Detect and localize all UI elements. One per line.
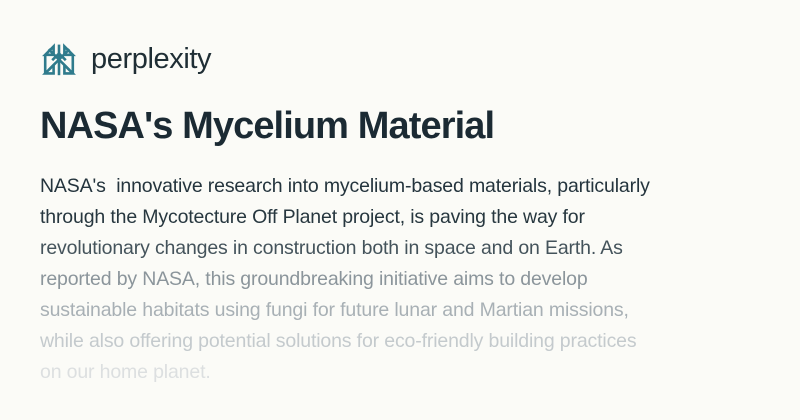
article-body: NASA's innovative research into mycelium…: [40, 171, 780, 388]
page-title: NASA's Mycelium Material: [40, 103, 764, 149]
perplexity-asterisk-logo-icon: [39, 40, 79, 80]
body-line: while also offering potential solutions …: [40, 326, 780, 357]
perplexity-wordmark: perplexity: [91, 45, 211, 76]
body-line: revolutionary changes in construction bo…: [40, 233, 780, 264]
perplexity-brand[interactable]: perplexity: [39, 38, 764, 82]
body-line: NASA's innovative research into mycelium…: [40, 171, 780, 202]
article-page: perplexity NASA's Mycelium Material NASA…: [0, 0, 800, 420]
body-line: on our home planet.: [40, 357, 780, 388]
body-line: sustainable habitats using fungi for fut…: [40, 295, 780, 326]
body-line: through the Mycotecture Off Planet proje…: [40, 202, 780, 233]
body-line: reported by NASA, this groundbreaking in…: [40, 264, 780, 295]
